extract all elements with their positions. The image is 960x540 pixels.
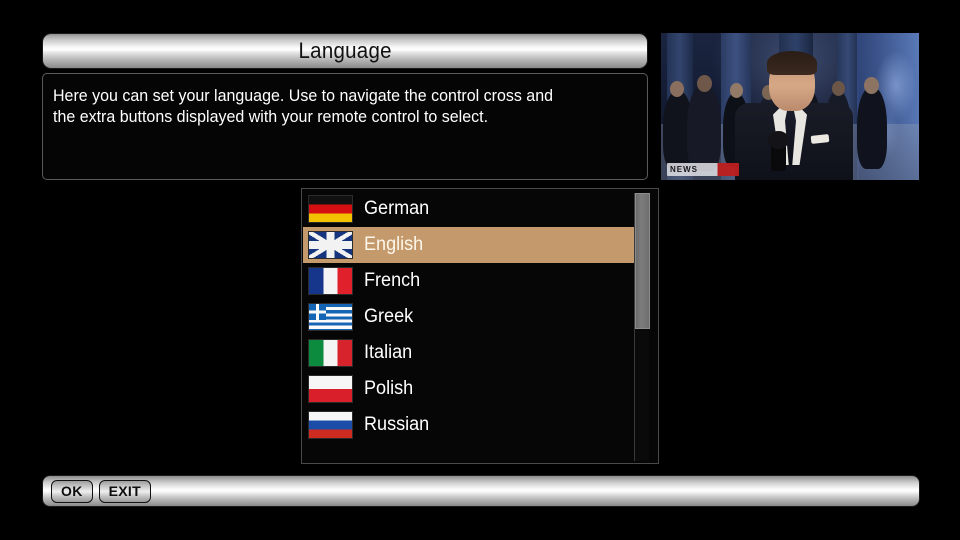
language-list-panel[interactable]: GermanEnglishFrenchGreekItalianPolishRus… (301, 188, 659, 464)
list-scrollbar-thumb[interactable] (635, 193, 650, 329)
language-list: GermanEnglishFrenchGreekItalianPolishRus… (303, 191, 643, 443)
crowd-head (697, 75, 712, 92)
page-title-bar: Language (42, 33, 648, 69)
language-item-italian[interactable]: Italian (303, 335, 643, 371)
language-item-greek[interactable]: Greek (303, 299, 643, 335)
crowd-head (864, 77, 879, 94)
language-item-label: Polish (364, 378, 413, 400)
crowd-figure (857, 87, 887, 169)
flag-poland-icon (308, 375, 353, 403)
list-scrollbar-track[interactable] (634, 193, 649, 461)
flag-united-kingdom-icon (308, 231, 353, 259)
reporter-hair (767, 51, 817, 75)
flag-germany-icon (308, 195, 353, 223)
language-item-german[interactable]: German (303, 191, 643, 227)
tv-settings-screen: Language Here you can set your language.… (0, 0, 960, 540)
flag-france-icon (308, 267, 353, 295)
action-bar: OKEXIT (42, 475, 920, 507)
language-item-label: German (364, 198, 429, 220)
language-item-french[interactable]: French (303, 263, 643, 299)
language-item-polish[interactable]: Polish (303, 371, 643, 407)
page-title: Language (298, 38, 391, 64)
language-item-english[interactable]: English (303, 227, 643, 263)
description-box: Here you can set your language. Use to n… (42, 73, 648, 180)
channel-logo: NEWS (667, 163, 739, 176)
language-item-label: Greek (364, 306, 413, 328)
crowd-head (730, 83, 743, 98)
video-preview[interactable]: NEWS (661, 33, 919, 180)
flag-russia-icon (308, 411, 353, 439)
language-item-label: Italian (364, 342, 412, 364)
microphone-icon (768, 131, 789, 149)
flag-greece-icon (308, 303, 353, 331)
ok-button[interactable]: OK (51, 480, 93, 503)
language-item-russian[interactable]: Russian (303, 407, 643, 443)
language-item-label: Russian (364, 414, 429, 436)
language-item-label: French (364, 270, 420, 292)
language-item-label: English (364, 234, 423, 256)
crowd-head (832, 81, 845, 96)
description-text: Here you can set your language. Use to n… (53, 86, 619, 128)
crowd-head (670, 81, 684, 97)
flag-italy-icon (308, 339, 353, 367)
exit-button[interactable]: EXIT (99, 480, 151, 503)
crowd-figure (687, 85, 721, 171)
